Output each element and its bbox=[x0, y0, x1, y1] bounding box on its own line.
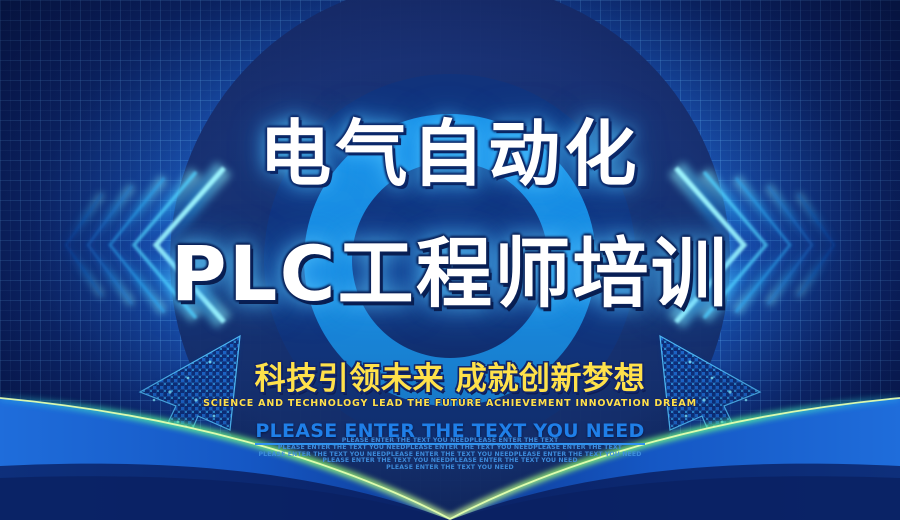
page-title-main: 电气自动化 bbox=[0, 114, 900, 194]
poster-canvas: 电气自动化 PLC工程师培训 科技引领未来 成就创新梦想 SCIENCE AND… bbox=[0, 0, 900, 520]
slogan-chinese: 科技引领未来 成就创新梦想 bbox=[0, 361, 900, 397]
slogan-english: SCIENCE AND TECHNOLOGY LEAD THE FUTURE A… bbox=[0, 398, 900, 410]
page-title-sub: PLC工程师培训 bbox=[0, 231, 900, 317]
filler-line: PLEASE ENTER THE TEXT YOU NEED bbox=[0, 465, 900, 472]
filler-paragraph: PLEASE ENTER THE TEXT YOU NEEDPLEASE ENT… bbox=[0, 438, 900, 472]
text-content: 电气自动化 PLC工程师培训 科技引领未来 成就创新梦想 SCIENCE AND… bbox=[0, 0, 900, 520]
